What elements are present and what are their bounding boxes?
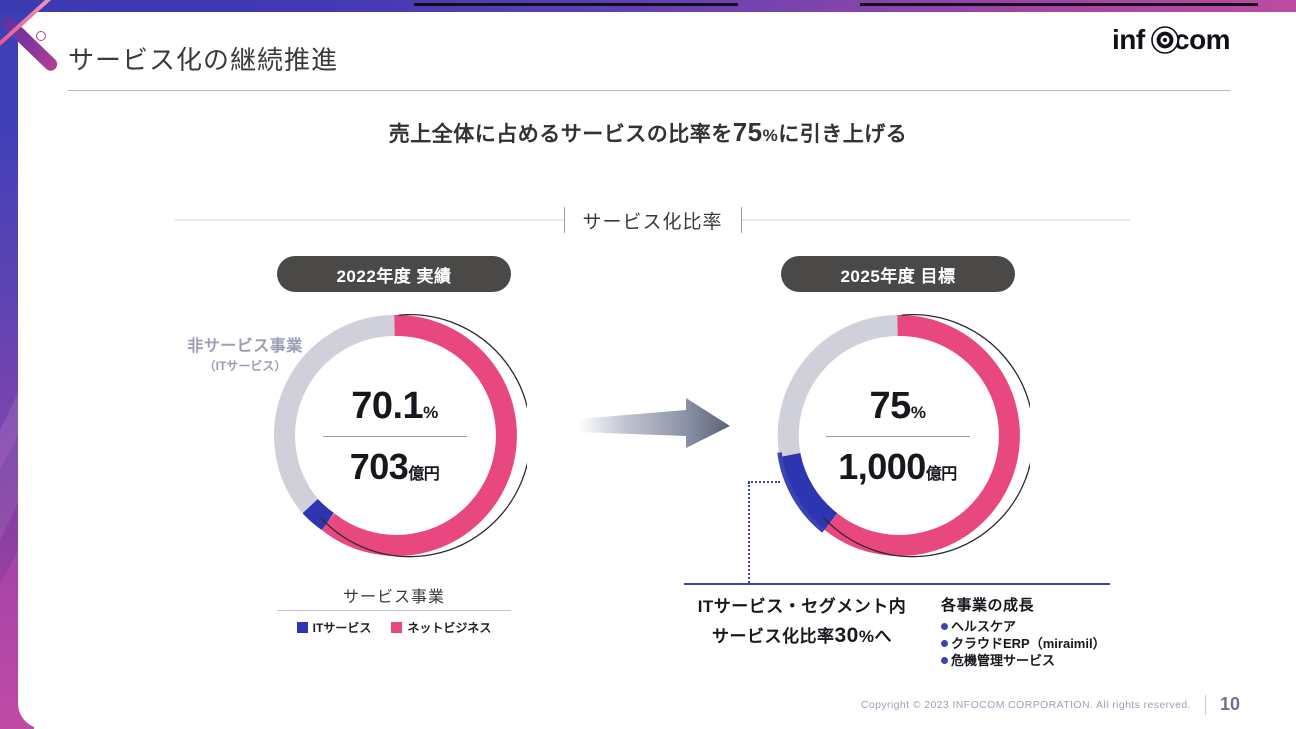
transition-arrow (578, 396, 730, 458)
callout-text: ITサービス・セグメント内 サービス化比率30%へ (666, 594, 938, 653)
donut-2022-percent: 70.1% (319, 387, 471, 425)
subtitle-post: に引き上げる (778, 123, 907, 146)
donut-2022-amount: 703億円 (319, 449, 471, 485)
donut-2025-percent: 75% (822, 387, 974, 425)
subtitle-number: 75 (733, 117, 763, 147)
legend-divider (277, 610, 511, 611)
donut-2025-center: 75% 1,000億円 (822, 387, 974, 485)
bullet-icon (941, 640, 948, 647)
callout-line2-post: %へ (859, 627, 892, 646)
donut-chart-2025: 75% 1,000億円 (765, 303, 1030, 568)
infocom-logo-mark: inf com (1112, 22, 1272, 58)
bullet-icon (941, 623, 948, 630)
arc-it-service (310, 506, 328, 521)
top-bar-mark-left (414, 3, 738, 6)
top-bar-mark-right (860, 3, 1258, 6)
callout-leader-horizontal (748, 481, 780, 483)
donut-2022-center: 70.1% 703億円 (319, 387, 471, 485)
transition-arrow-svg (578, 396, 730, 458)
section-label: サービス化比率 (565, 207, 741, 234)
donut-2025-amount: 1,000億円 (822, 449, 974, 485)
page-title: サービス化の継続推進 (68, 40, 338, 77)
subtitle: 売上全体に占めるサービスの比率を75%に引き上げる (0, 117, 1296, 148)
growth-item: 危機管理サービス (941, 652, 1141, 669)
footer: Copyright © 2023 INFOCOM CORPORATION. Al… (861, 694, 1240, 715)
svg-text:com: com (1174, 24, 1230, 55)
copyright-text: Copyright © 2023 INFOCOM CORPORATION. Al… (861, 699, 1191, 711)
growth-item: クラウドERP（miraimil） (941, 635, 1141, 652)
slide-root: inf com サービス化の継続推進 売上全体に占めるサービスの比率を75%に引… (0, 0, 1296, 729)
top-gradient-bar (0, 0, 1296, 12)
chart-legend: ITサービス ネットビジネス (277, 619, 511, 636)
callout-leader-vertical (748, 482, 750, 583)
pill-2025-target: 2025年度 目標 (781, 256, 1015, 292)
callout-line2-number: 30 (835, 624, 859, 647)
bullet-icon (941, 657, 948, 664)
legend-item-net-business: ネットビジネス (391, 619, 491, 636)
callout-underline (684, 583, 1110, 585)
section-divider: サービス化比率 (175, 204, 1130, 236)
service-business-label: サービス事業 (277, 583, 511, 607)
infocom-logo: inf com (1112, 22, 1272, 58)
callout-line1: ITサービス・セグメント内 (666, 594, 938, 620)
legend-swatch-net-business (391, 622, 402, 633)
growth-list: 各事業の成長 ヘルスケア クラウドERP（miraimil） 危機管理サービス (941, 594, 1141, 669)
growth-heading: 各事業の成長 (941, 594, 1141, 615)
donut-2022-center-rule (323, 436, 467, 437)
legend-item-it-service: ITサービス (297, 619, 372, 636)
decorative-circle (36, 31, 46, 41)
title-underline (68, 90, 1230, 91)
footer-divider (1205, 695, 1206, 715)
growth-item: ヘルスケア (941, 618, 1141, 635)
subtitle-percent-sign: % (763, 126, 779, 145)
pill-2022-actual: 2022年度 実績 (277, 256, 511, 292)
donut-chart-2022: 70.1% 703億円 (262, 303, 527, 568)
callout-line2: サービス化比率30%へ (666, 620, 938, 653)
divider-line-left (175, 219, 564, 221)
growth-item-label: ヘルスケア (951, 618, 1016, 635)
page-number: 10 (1220, 694, 1240, 715)
svg-text:inf: inf (1112, 24, 1146, 55)
callout-line2-pre: サービス化比率 (712, 627, 835, 646)
legend-swatch-it-service (297, 622, 308, 633)
donut-2025-center-rule (826, 436, 970, 437)
growth-item-label: クラウドERP（miraimil） (951, 635, 1106, 652)
legend-label-it-service: ITサービス (313, 619, 372, 636)
legend-label-net-business: ネットビジネス (407, 619, 491, 636)
growth-item-label: 危機管理サービス (951, 652, 1055, 669)
subtitle-pre: 売上全体に占めるサービスの比率を (389, 123, 733, 146)
divider-line-right (742, 219, 1131, 221)
